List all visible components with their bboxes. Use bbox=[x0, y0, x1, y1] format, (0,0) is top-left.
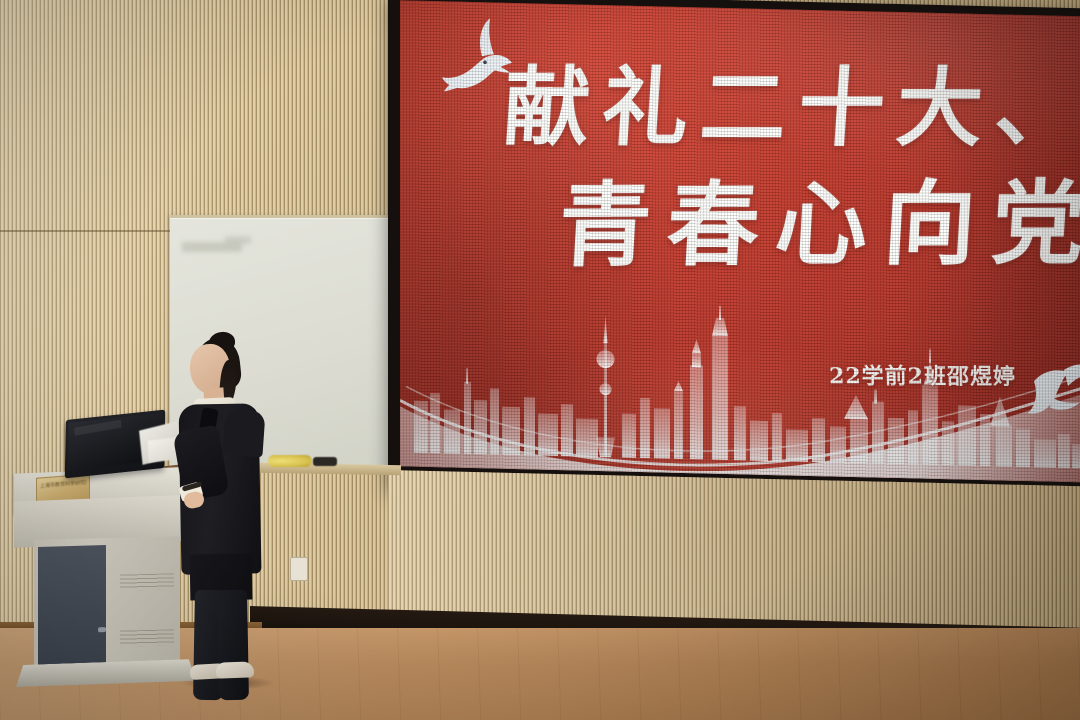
podium-vent-upper bbox=[120, 573, 174, 590]
monitor-glare bbox=[74, 419, 121, 436]
silk-fold-shading bbox=[400, 0, 1080, 482]
led-screen-bezel: 献礼二十大、 青春心向党 22学前2班邵煜婷 bbox=[388, 0, 1080, 504]
dove-icon bbox=[432, 13, 524, 115]
city-skyline-graphic bbox=[400, 280, 1080, 482]
headline-line-2: 青春心向党 bbox=[555, 149, 1080, 284]
led-screen-display: 献礼二十大、 青春心向党 22学前2班邵煜婷 bbox=[400, 0, 1080, 482]
podium-vent-lower bbox=[120, 629, 174, 646]
presenter-shoe-right bbox=[216, 661, 255, 678]
podium-nameplate-text: 上海市教育科学研究院 bbox=[40, 480, 86, 490]
led-pixel-texture bbox=[400, 0, 1080, 482]
presenter-figure bbox=[176, 332, 296, 692]
headline-line-1: 献礼二十大、 bbox=[500, 37, 1080, 163]
board-smudge-secondary bbox=[225, 236, 251, 244]
podium-control-panel bbox=[38, 545, 106, 672]
dark-object-on-ledge bbox=[313, 457, 337, 466]
auditorium-photo: 献礼二十大、 青春心向党 22学前2班邵煜婷 上海市教育科学研究院 bbox=[0, 0, 1080, 720]
presenter-shoulder bbox=[222, 409, 265, 458]
screen-headline-group: 献礼二十大、 青春心向党 22学前2班邵煜婷 bbox=[400, 0, 1080, 482]
podium-panel-knob[interactable] bbox=[98, 627, 106, 632]
dove-icon bbox=[1024, 345, 1080, 433]
presenter-byline: 22学前2班邵煜婷 bbox=[829, 358, 1017, 391]
presenter-leg-right bbox=[217, 590, 249, 701]
screen-vignette bbox=[400, 0, 1080, 482]
